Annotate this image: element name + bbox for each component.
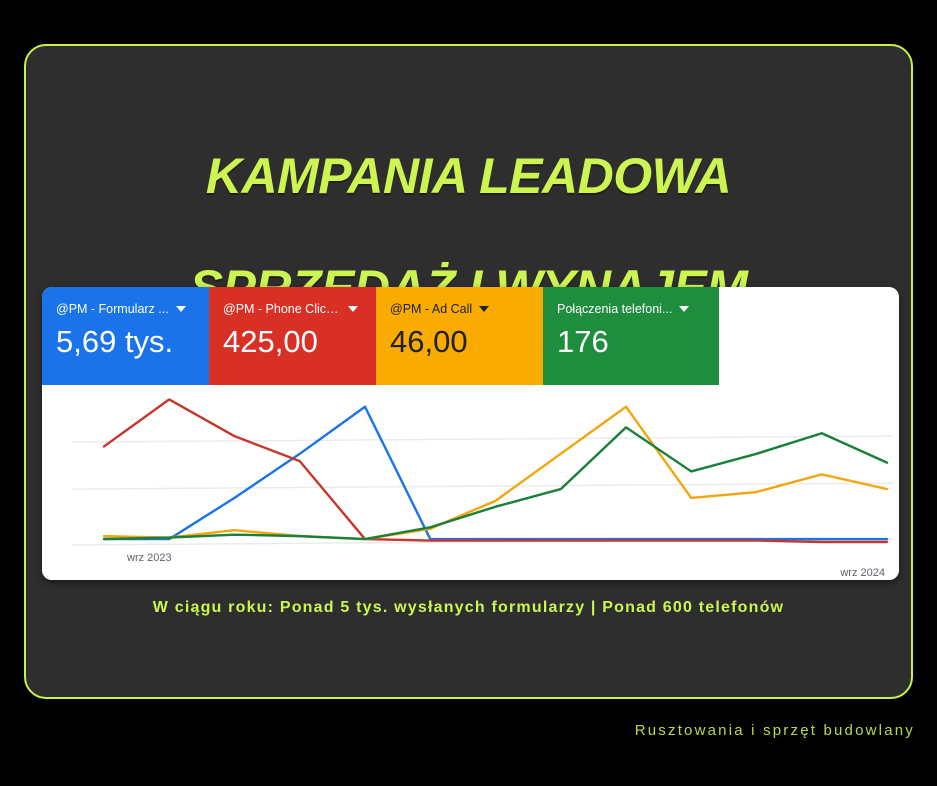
chart-series-0: [104, 407, 887, 539]
axis-start-label: wrz 2023: [127, 552, 172, 564]
scorecard-ad-call[interactable]: @PM - Ad Call 46,00: [376, 287, 543, 385]
chevron-down-icon[interactable]: [679, 306, 689, 312]
scorecard-polaczenia[interactable]: Połączenia telefoni... 176: [543, 287, 719, 385]
scorecard-title: @PM - Ad Call: [390, 302, 472, 316]
poster-canvas: KAMPANIA LEADOWA SPRZEDAŻ I WYNAJEM SPRZ…: [0, 0, 937, 786]
scorecard-phone-click[interactable]: @PM - Phone Click ... 425,00: [209, 287, 376, 385]
scorecard-header: @PM - Phone Click ...: [223, 302, 362, 316]
strapline: W ciągu roku: Ponad 5 tys. wysłanych for…: [26, 599, 911, 617]
scorecard-title: Połączenia telefoni...: [557, 302, 672, 316]
chevron-down-icon[interactable]: [348, 306, 358, 312]
scorecard-header: @PM - Formularz ...: [56, 302, 195, 316]
scorecard-row: @PM - Formularz ... 5,69 tys. @PM - Phon…: [42, 287, 719, 385]
scorecard-value: 176: [557, 325, 705, 359]
chart-series-2: [104, 407, 887, 539]
scorecard-title: @PM - Formularz ...: [56, 302, 169, 316]
chart-series-3: [104, 427, 887, 539]
chart-gridline: [72, 436, 893, 442]
chart-canvas: [42, 385, 899, 580]
scorecard-title: @PM - Phone Click ...: [223, 302, 341, 316]
chart-series-1: [104, 399, 887, 542]
headline-line-1: KAMPANIA LEADOWA: [26, 148, 911, 204]
poster-card: KAMPANIA LEADOWA SPRZEDAŻ I WYNAJEM SPRZ…: [24, 44, 913, 699]
time-series-chart[interactable]: wrz 2023 wrz 2024: [42, 385, 899, 580]
report-panel: @PM - Formularz ... 5,69 tys. @PM - Phon…: [42, 287, 899, 580]
chevron-down-icon[interactable]: [176, 306, 186, 312]
scorecard-value: 5,69 tys.: [56, 325, 195, 359]
scorecard-header: Połączenia telefoni...: [557, 302, 705, 316]
chevron-down-icon[interactable]: [479, 306, 489, 312]
scorecard-value: 46,00: [390, 325, 529, 359]
scorecard-formularz[interactable]: @PM - Formularz ... 5,69 tys.: [42, 287, 209, 385]
axis-end-label: wrz 2024: [840, 567, 885, 579]
scorecard-value: 425,00: [223, 325, 362, 359]
brand-caption: Rusztowania i sprzęt budowlany: [635, 722, 915, 739]
scorecard-header: @PM - Ad Call: [390, 302, 529, 316]
